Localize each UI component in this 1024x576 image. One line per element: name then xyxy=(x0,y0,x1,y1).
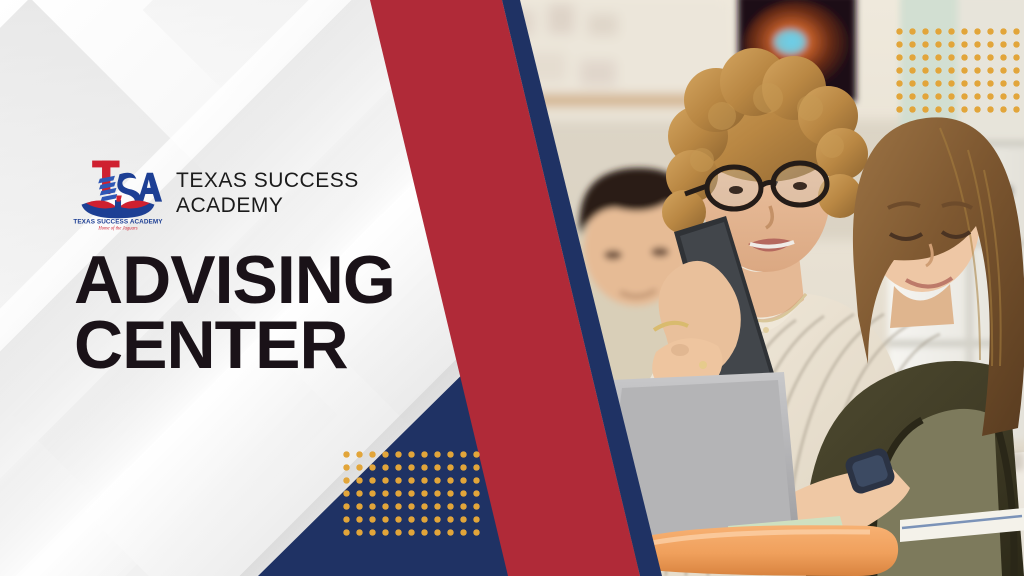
advising-center-banner: est. 2011 TEXAS SUCCESS ACADEMY Home of … xyxy=(0,0,1024,576)
page-title: ADVISING CENTER xyxy=(74,248,395,379)
tsa-open-book-logo-icon: est. 2011 TEXAS SUCCESS ACADEMY Home of … xyxy=(72,156,164,232)
brand-wordmark: TEXAS SUCCESS ACADEMY xyxy=(176,169,359,219)
gold-dot-grid-top-right xyxy=(893,25,1024,117)
banner-content: est. 2011 TEXAS SUCCESS ACADEMY Home of … xyxy=(0,0,470,576)
logo-tagline-text: Home of the Jaguars xyxy=(97,227,137,232)
logo-arc-text: TEXAS SUCCESS ACADEMY xyxy=(73,219,163,226)
brand-lockup: est. 2011 TEXAS SUCCESS ACADEMY Home of … xyxy=(72,156,359,232)
logo-est-text: est. 2011 xyxy=(112,214,125,218)
